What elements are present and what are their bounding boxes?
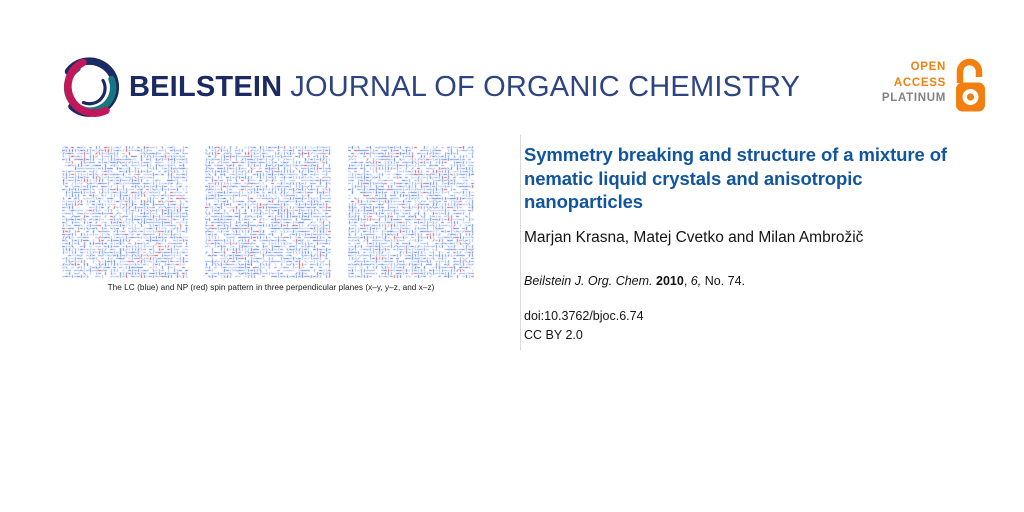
citation-journal: Beilstein J. Org. Chem. [524, 274, 653, 288]
article-meta: Symmetry breaking and structure of a mix… [524, 143, 956, 345]
wordmark-subtitle: JOURNAL OF ORGANIC CHEMISTRY [290, 71, 800, 104]
figure-block: The LC (blue) and NP (red) spin pattern … [62, 146, 480, 293]
wordmark-beilstein: BEILSTEIN [129, 71, 282, 104]
beilstein-spiral-logo-icon[interactable] [56, 54, 124, 122]
citation-number: No. 74. [705, 274, 745, 288]
column-divider [520, 135, 521, 350]
spin-panel-xy[interactable] [62, 146, 190, 278]
article-citation: Beilstein J. Org. Chem. 2010, 6, No. 74. [524, 273, 956, 290]
article-license[interactable]: CC BY 2.0 [524, 326, 956, 345]
article-authors: Marjan Krasna, Matej Cvetko and Milan Am… [524, 228, 956, 248]
citation-volume: 6, [691, 274, 701, 288]
figure-caption: The LC (blue) and NP (red) spin pattern … [62, 282, 480, 293]
spin-panel-xz[interactable] [348, 146, 476, 278]
spin-pattern-panels [62, 146, 480, 278]
open-access-label: OPEN ACCESS PLATINUM [882, 60, 946, 107]
oa-line-platinum: PLATINUM [882, 91, 946, 107]
masthead: BEILSTEIN JOURNAL OF ORGANIC CHEMISTRY O… [0, 0, 1024, 128]
oa-line-access: ACCESS [882, 76, 946, 92]
open-lock-icon [950, 58, 990, 114]
oa-line-open: OPEN [882, 60, 946, 76]
citation-year: 2010 [656, 274, 684, 288]
article-doi[interactable]: doi:10.3762/bjoc.6.74 [524, 307, 956, 326]
journal-wordmark[interactable]: BEILSTEIN JOURNAL OF ORGANIC CHEMISTRY [129, 68, 800, 106]
open-access-badge[interactable]: OPEN ACCESS PLATINUM [884, 58, 990, 118]
article-title[interactable]: Symmetry breaking and structure of a mix… [524, 143, 954, 214]
spin-panel-yz[interactable] [205, 146, 333, 278]
